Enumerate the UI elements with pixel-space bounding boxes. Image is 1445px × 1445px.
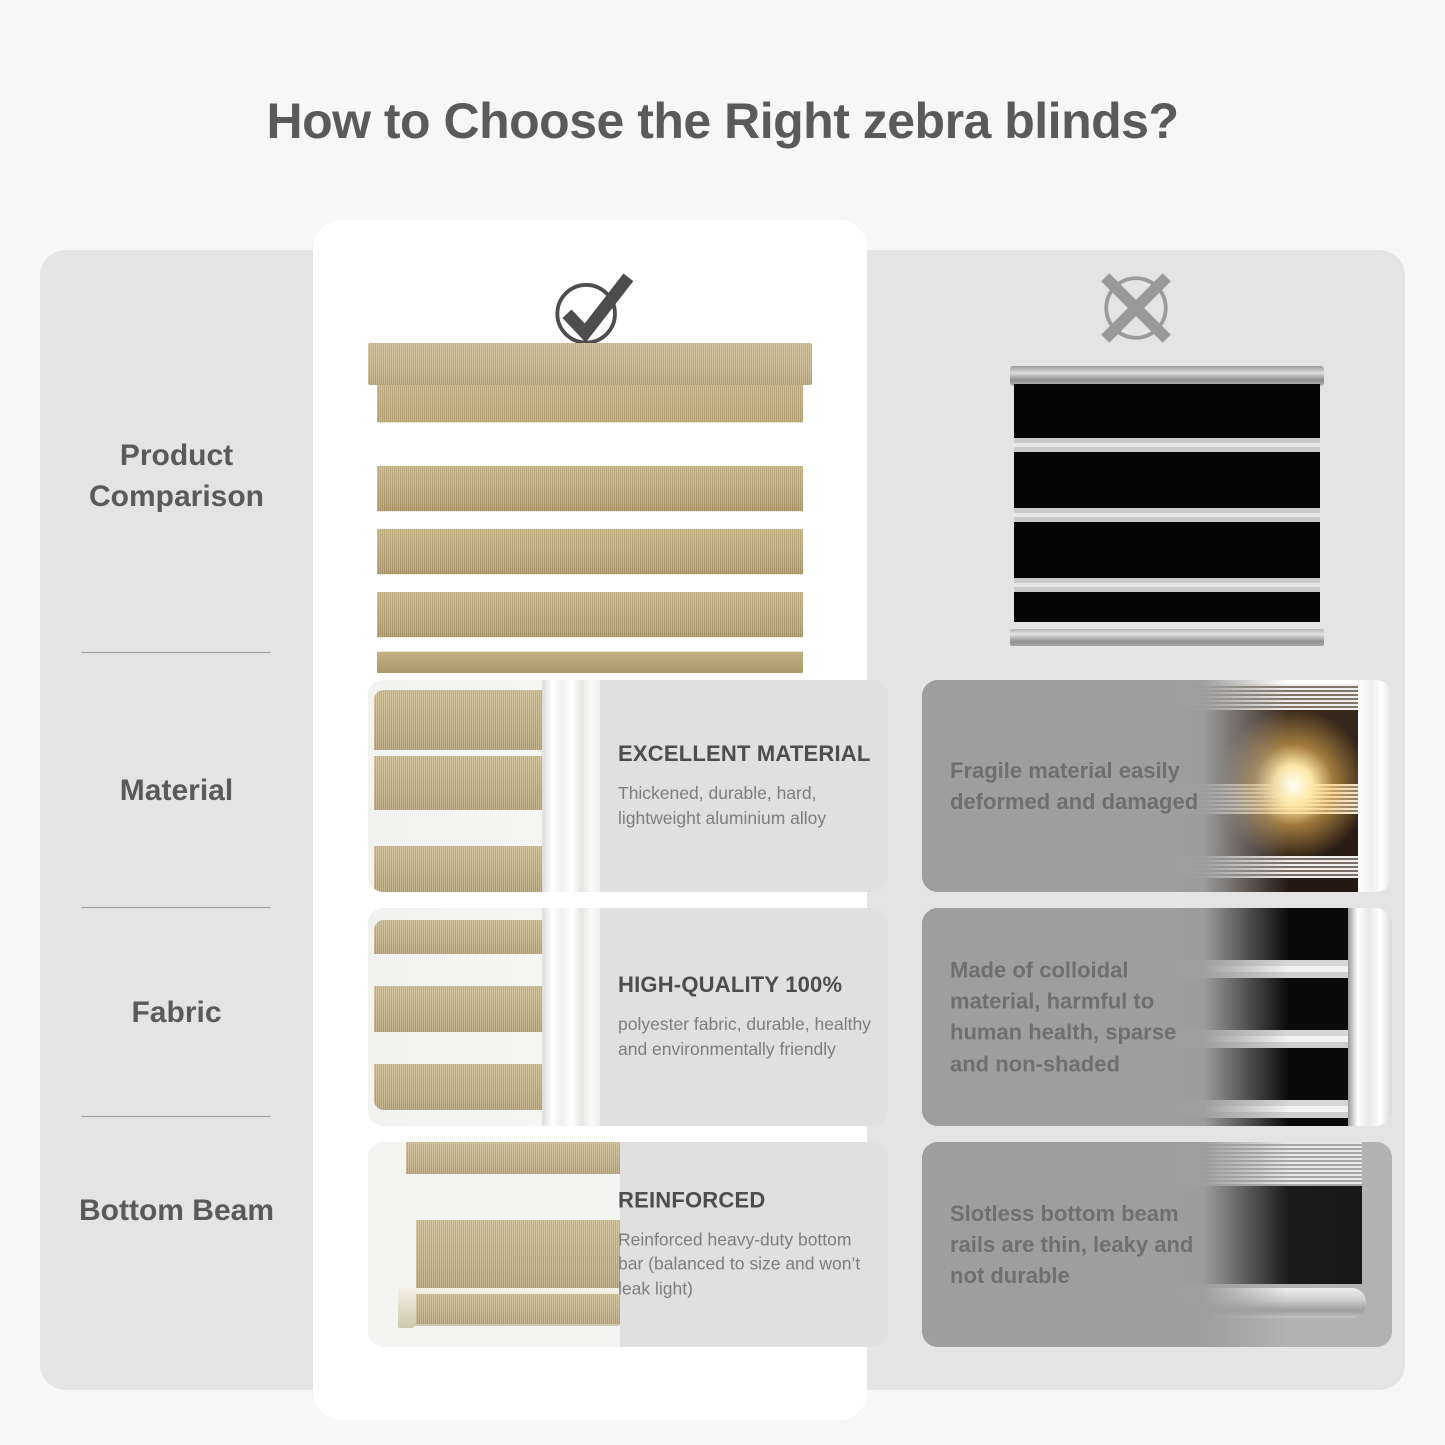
- fabric-good-heading: HIGH-QUALITY 100%: [618, 972, 876, 998]
- beige-blind-closeup-image: [368, 680, 600, 892]
- material-bad-text: Fragile material easily deformed and dam…: [950, 755, 1202, 817]
- bottom-beam-good-card: REINFORCED Reinforced heavy-duty bottom …: [368, 1142, 888, 1347]
- bottom-beam-good-heading: REINFORCED: [618, 1187, 876, 1213]
- beige-fabric-closeup-image: [368, 908, 600, 1126]
- bottom-beam-bad-text: Slotless bottom beam rails are thin, lea…: [950, 1198, 1202, 1292]
- row-divider: [81, 907, 271, 908]
- window-frame: [542, 680, 600, 892]
- cross-circle-icon: [1088, 260, 1184, 356]
- material-good-heading: EXCELLENT MATERIAL: [618, 741, 876, 767]
- bottom-beam-bad-card: Slotless bottom beam rails are thin, lea…: [922, 1142, 1392, 1347]
- material-good-card: EXCELLENT MATERIAL Thickened, durable, h…: [368, 680, 888, 892]
- row-label-bottom-beam: Bottom Beam: [40, 1190, 313, 1231]
- comparison-board: Product Comparison Material Fabric Botto…: [40, 250, 1405, 1390]
- blind-headrail: [368, 343, 812, 385]
- row-divider: [81, 1116, 271, 1117]
- fabric-good-card: HIGH-QUALITY 100% polyester fabric, dura…: [368, 908, 888, 1126]
- row-label-material: Material: [40, 770, 313, 811]
- page-title: How to Choose the Right zebra blinds?: [0, 92, 1445, 150]
- criteria-column: Product Comparison Material Fabric Botto…: [40, 250, 313, 1390]
- blind-headrail: [1010, 366, 1324, 386]
- window-frame: [542, 908, 600, 1126]
- beige-bottom-bar-image: [368, 1142, 620, 1347]
- not-recommended-column-header: [867, 260, 1405, 356]
- fabric-bad-text: Made of colloidal material, harmful to h…: [950, 955, 1202, 1080]
- black-zebra-blind-full-image: [1002, 360, 1332, 650]
- fabric-good-body: polyester fabric, durable, healthy and e…: [618, 1012, 876, 1062]
- bottom-beam-good-body: Reinforced heavy-duty bottom bar (balanc…: [618, 1227, 876, 1302]
- fabric-bad-card: Made of colloidal material, harmful to h…: [922, 908, 1392, 1126]
- blind-bottom-bar: [377, 651, 803, 673]
- recommended-column-header: [313, 260, 867, 356]
- beige-zebra-blind-full-image: [368, 343, 812, 673]
- row-divider: [81, 652, 271, 653]
- fabric-good-text: HIGH-QUALITY 100% polyester fabric, dura…: [618, 972, 876, 1062]
- row-label-product-comparison: Product Comparison: [40, 435, 313, 518]
- material-good-body: Thickened, durable, hard, lightweight al…: [618, 781, 876, 831]
- blind-slat: [377, 592, 803, 638]
- blind-slat: [377, 529, 803, 575]
- material-good-text: EXCELLENT MATERIAL Thickened, durable, h…: [618, 741, 876, 831]
- bottom-beam-good-text: REINFORCED Reinforced heavy-duty bottom …: [618, 1187, 876, 1302]
- check-circle-icon: [542, 260, 638, 356]
- blind-bottom-rail: [1010, 629, 1324, 646]
- material-bad-card: Fragile material easily deformed and dam…: [922, 680, 1392, 892]
- blind-headrail-lip: [377, 385, 803, 423]
- blind-slat: [377, 466, 803, 512]
- blind-striped-fabric: [1014, 384, 1320, 622]
- row-label-fabric: Fabric: [40, 992, 313, 1033]
